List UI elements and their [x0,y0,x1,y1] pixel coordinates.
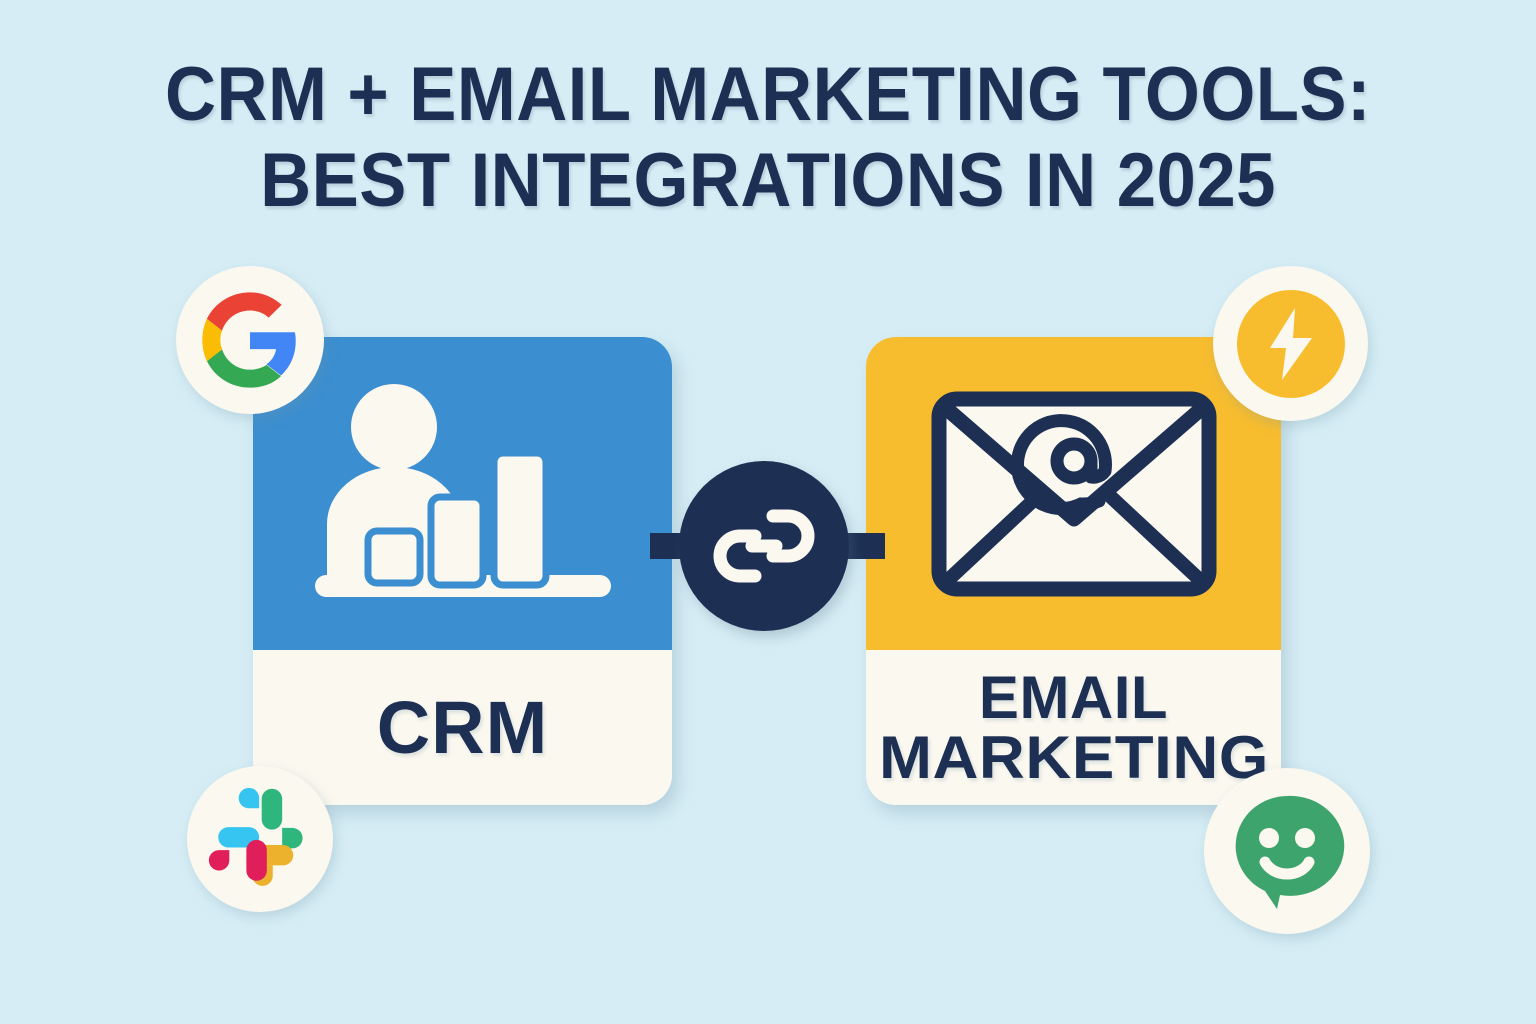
card-crm[interactable]: CRM [253,337,672,805]
title-line-2: BEST INTEGRATIONS IN 2025 [54,144,1482,218]
badge-slack[interactable] [187,766,333,912]
connector-bar-right [845,533,885,559]
card-email-footer: EMAIL MARKETING [866,650,1281,805]
card-crm-header [253,337,672,650]
chat-smiley-icon [1227,790,1347,912]
chain-link-icon [710,492,818,600]
slack-logo-icon [208,787,312,891]
title-line-1: CRM + EMAIL MARKETING TOOLS: [54,58,1482,132]
card-email-marketing[interactable]: EMAIL MARKETING [866,337,1281,805]
badge-google[interactable] [176,266,324,414]
lightning-bolt-icon [1262,306,1320,382]
envelope-at-icon [929,389,1219,599]
card-email-label: EMAIL MARKETING [890,668,1258,788]
chain-link-badge[interactable] [679,461,849,631]
card-crm-footer: CRM [253,650,672,805]
google-g-icon [198,288,302,392]
person-bar-chart-icon [313,379,613,609]
bolt-disc [1237,290,1345,398]
badge-lightning[interactable] [1213,266,1368,421]
card-email-label-line-1: EMAIL [890,668,1258,728]
infographic-canvas: CRM + EMAIL MARKETING TOOLS: BEST INTEGR… [0,0,1536,1024]
page-title: CRM + EMAIL MARKETING TOOLS: BEST INTEGR… [0,58,1536,219]
card-email-header [866,337,1281,650]
card-email-label-line-2: MARKETING [879,728,1269,788]
card-crm-label: CRM [377,691,549,765]
badge-chat[interactable] [1204,768,1370,934]
